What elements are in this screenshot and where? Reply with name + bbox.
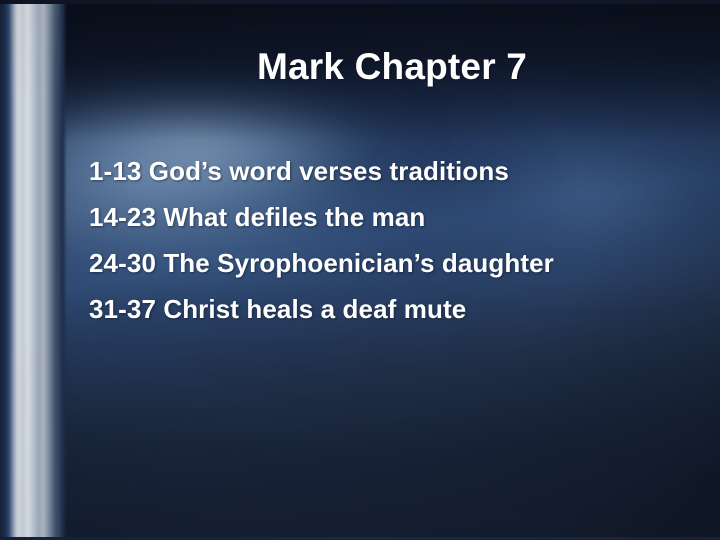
outline-item-3: 24-30 The Syrophoenician’s daughter [89,240,700,286]
left-column-left-edge [0,0,10,540]
decorative-left-column [0,0,64,540]
presentation-slide: Mark Chapter 7 1-13 God’s word verses tr… [0,0,720,540]
left-column-tint [9,0,61,540]
outline-item-4: 31-37 Christ heals a deaf mute [89,286,700,332]
slide-frame-top [0,0,720,4]
outline-item-2: 14-23 What defiles the man [89,194,700,240]
outline-item-1: 1-13 God’s word verses traditions [89,148,700,194]
slide-outline-list: 1-13 God’s word verses traditions 14-23 … [89,148,700,332]
slide-title: Mark Chapter 7 [64,46,720,88]
